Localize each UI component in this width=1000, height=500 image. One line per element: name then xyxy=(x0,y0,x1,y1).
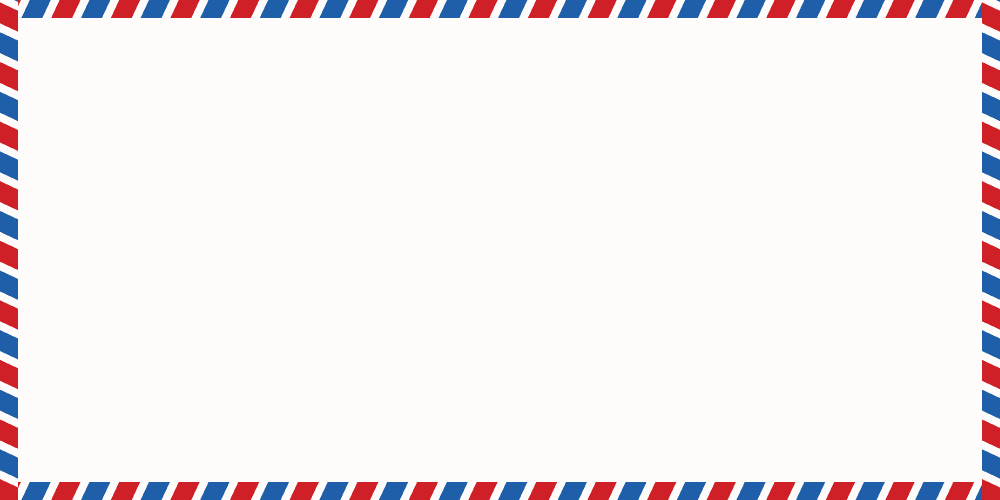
postcode-digit-3: 3 xyxy=(380,29,448,93)
postcode-digit-box-1[interactable]: 5 xyxy=(33,25,105,97)
level-2-label: 六盘水市 二级：邮区 xyxy=(165,226,405,274)
postcode-digit-5: 3 xyxy=(725,29,793,93)
level-2-description: 二级：邮区 xyxy=(165,252,405,274)
footnote-badge: 邮编组成：四级六码 xyxy=(33,422,275,471)
postcode-digit-box-2[interactable]: 5 xyxy=(205,25,277,97)
level-1-name: 贵州省 xyxy=(79,113,231,137)
delivery-office-caption: 投递局 xyxy=(769,109,921,139)
postcode-structure-diagram: 5 5 3 5 3 3 贵州省 一级：省、自治区、直辖市 六盘水市 二级：邮区 … xyxy=(0,0,1000,500)
postcode-digit-box-3[interactable]: 3 xyxy=(378,25,450,97)
level-3-label: 盘县等 三级：县（市）邮政局 xyxy=(295,310,575,358)
level-2-name: 六盘水市 xyxy=(165,226,405,250)
level-3-description: 三级：县（市）邮政局 xyxy=(295,336,575,358)
postcode-digit-box-5[interactable]: 3 xyxy=(723,25,795,97)
delivery-office-label: 投递局 xyxy=(811,113,880,137)
postcode-digit-1: 5 xyxy=(35,29,103,93)
level-1-description: 一级：省、自治区、直辖市 xyxy=(79,139,231,184)
level-4-description: 四级：投递局（区） xyxy=(446,415,831,437)
postcode-digit-box-6[interactable]: 3 xyxy=(895,25,967,97)
footnote-label: 邮编组成：四级六码 xyxy=(55,431,253,460)
level-3-name: 盘县等 xyxy=(295,310,575,334)
level-4-label: 某某路邮政支局 四级：投递局（区） xyxy=(446,389,831,437)
postcode-digit-box-4[interactable]: 5 xyxy=(551,25,623,97)
postcode-digit-6: 3 xyxy=(897,29,965,93)
level-4-name: 某某路邮政支局 xyxy=(446,389,831,413)
postcode-digit-4: 5 xyxy=(553,29,621,93)
postcode-digit-2: 5 xyxy=(207,29,275,93)
level-1-label: 贵州省 一级：省、自治区、直辖市 xyxy=(79,113,231,183)
